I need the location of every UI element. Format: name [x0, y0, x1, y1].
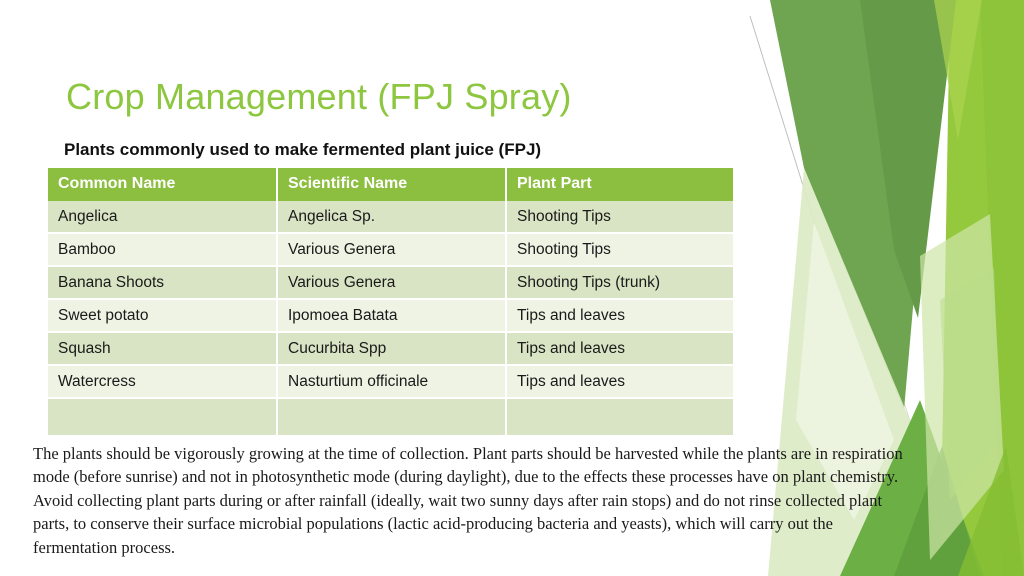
shape-overlay-right-2 — [940, 268, 1000, 500]
cell-common-name: Angelica — [48, 201, 277, 233]
shape-bright-right — [940, 0, 1024, 576]
page-title: Crop Management (FPJ Spray) — [66, 76, 572, 118]
cell-scientific-name — [277, 398, 506, 436]
table-row: Angelica Angelica Sp. Shooting Tips — [48, 201, 733, 233]
shape-deep-wedge-2 — [860, 0, 956, 318]
cell-plant-part: Tips and leaves — [506, 299, 733, 332]
cell-common-name — [48, 398, 277, 436]
table-row: Banana Shoots Various Genera Shooting Ti… — [48, 266, 733, 299]
table-row: Squash Cucurbita Spp Tips and leaves — [48, 332, 733, 365]
cell-common-name: Squash — [48, 332, 277, 365]
table-row: Sweet potato Ipomoea Batata Tips and lea… — [48, 299, 733, 332]
cell-common-name: Sweet potato — [48, 299, 277, 332]
cell-plant-part: Shooting Tips — [506, 233, 733, 266]
column-header-scientific-name: Scientific Name — [277, 168, 506, 201]
shape-overlay-right — [920, 214, 1004, 560]
cell-scientific-name: Ipomoea Batata — [277, 299, 506, 332]
table-row: Watercress Nasturtium officinale Tips an… — [48, 365, 733, 398]
table-header: Common Name Scientific Name Plant Part — [48, 168, 733, 201]
presentation-slide: Crop Management (FPJ Spray) Plants commo… — [0, 0, 1024, 576]
cell-scientific-name: Angelica Sp. — [277, 201, 506, 233]
cell-common-name: Watercress — [48, 365, 277, 398]
body-paragraph: The plants should be vigorously growing … — [33, 442, 918, 560]
cell-scientific-name: Various Genera — [277, 266, 506, 299]
cell-plant-part: Shooting Tips (trunk) — [506, 266, 733, 299]
table-body: Angelica Angelica Sp. Shooting Tips Bamb… — [48, 201, 733, 436]
table-caption: Plants commonly used to make fermented p… — [64, 140, 541, 160]
shape-bright-right-2 — [980, 0, 1024, 576]
column-header-plant-part: Plant Part — [506, 168, 733, 201]
table-header-row: Common Name Scientific Name Plant Part — [48, 168, 733, 201]
cell-plant-part: Tips and leaves — [506, 365, 733, 398]
cell-scientific-name: Nasturtium officinale — [277, 365, 506, 398]
cell-common-name: Banana Shoots — [48, 266, 277, 299]
table-row: Bamboo Various Genera Shooting Tips — [48, 233, 733, 266]
cell-scientific-name: Cucurbita Spp — [277, 332, 506, 365]
shape-bottom-sliver — [958, 446, 1024, 576]
shape-deep-wedge — [770, 0, 940, 410]
column-header-common-name: Common Name — [48, 168, 277, 201]
plants-table: Common Name Scientific Name Plant Part A… — [48, 168, 733, 437]
cell-plant-part: Shooting Tips — [506, 201, 733, 233]
shape-top-sliver — [934, 0, 982, 140]
cell-common-name: Bamboo — [48, 233, 277, 266]
table-row-empty — [48, 398, 733, 436]
cell-plant-part — [506, 398, 733, 436]
cell-plant-part: Tips and leaves — [506, 332, 733, 365]
cell-scientific-name: Various Genera — [277, 233, 506, 266]
